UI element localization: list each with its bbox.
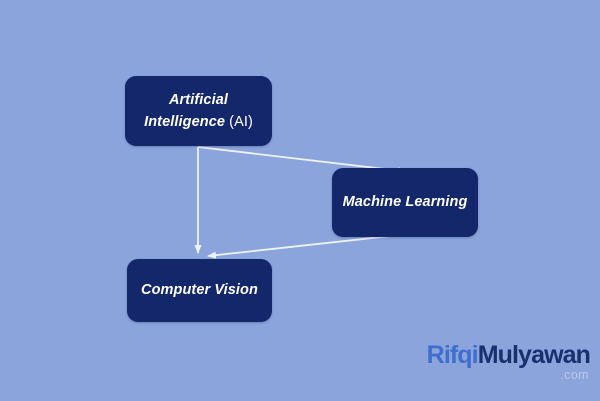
node-computer-vision[interactable]: Computer Vision bbox=[127, 259, 272, 322]
node-ml-label-text: Machine Learning bbox=[343, 194, 468, 210]
node-ai-label-text: Artificial Intelligence bbox=[144, 92, 228, 130]
watermark-first-name: Rifqi bbox=[427, 341, 478, 369]
node-artificial-intelligence-label: Artificial Intelligence (AI) bbox=[125, 89, 272, 134]
node-ai-label-suffix: (AI) bbox=[225, 114, 253, 130]
node-computer-vision-label: Computer Vision bbox=[131, 279, 268, 301]
watermark-last-name: Mulyawan bbox=[478, 341, 590, 369]
node-cv-label-text: Computer Vision bbox=[141, 282, 258, 298]
node-machine-learning-label: Machine Learning bbox=[333, 191, 478, 213]
watermark-domain-suffix: .com bbox=[408, 369, 590, 382]
diagram-canvas: Artificial Intelligence (AI) Machine Lea… bbox=[0, 0, 600, 401]
watermark-logo: RifqiMulyawan .com bbox=[408, 343, 590, 382]
node-machine-learning[interactable]: Machine Learning bbox=[332, 168, 478, 237]
edge-ml-to-cv bbox=[208, 234, 409, 256]
watermark-name: RifqiMulyawan bbox=[408, 343, 590, 368]
node-artificial-intelligence[interactable]: Artificial Intelligence (AI) bbox=[125, 76, 272, 146]
